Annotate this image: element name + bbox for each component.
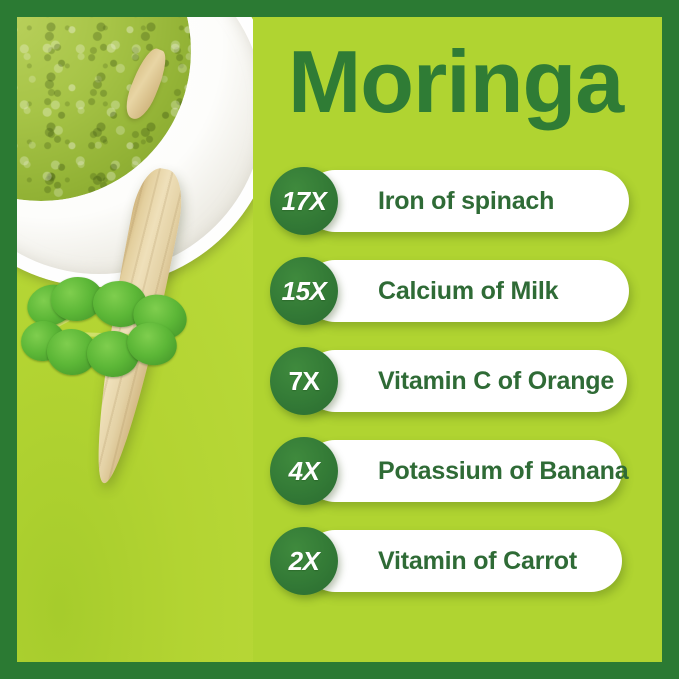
fact-pill: Vitamin of Carrot [304,530,622,592]
list-item: Vitamin C of Orange 7X [270,347,662,415]
multiplier-text: 15X [282,276,327,307]
product-photo [17,17,253,662]
facts-list: Iron of spinach 17X Calcium of Milk 15X [270,167,662,617]
fact-pill: Iron of spinach [304,170,629,232]
fact-label: Iron of spinach [378,187,554,216]
list-item: Iron of spinach 17X [270,167,662,235]
fact-pill: Calcium of Milk [304,260,629,322]
multiplier-badge: 7X [270,347,338,415]
list-item: Calcium of Milk 15X [270,257,662,325]
multiplier-text: 7X [289,366,320,397]
fact-pill: Potassium of Banana [304,440,622,502]
content-column: Moringa Iron of spinach 17X Calcium of M… [253,17,662,662]
list-item: Vitamin of Carrot 2X [270,527,662,595]
fact-label: Vitamin of Carrot [378,547,577,576]
multiplier-text: 17X [282,186,327,217]
multiplier-badge: 2X [270,527,338,595]
infographic-poster: Moringa Iron of spinach 17X Calcium of M… [0,0,679,679]
poster-panel: Moringa Iron of spinach 17X Calcium of M… [17,17,662,662]
multiplier-badge: 15X [270,257,338,325]
page-title: Moringa [288,38,623,126]
multiplier-text: 4X [289,456,320,487]
multiplier-badge: 4X [270,437,338,505]
fact-label: Calcium of Milk [378,277,558,306]
list-item: Potassium of Banana 4X [270,437,662,505]
fact-label: Vitamin C of Orange [378,367,614,396]
multiplier-text: 2X [289,546,320,577]
fact-label: Potassium of Banana [378,457,628,486]
multiplier-badge: 17X [270,167,338,235]
moringa-leaf-cluster [27,267,197,407]
fact-pill: Vitamin C of Orange [304,350,627,412]
